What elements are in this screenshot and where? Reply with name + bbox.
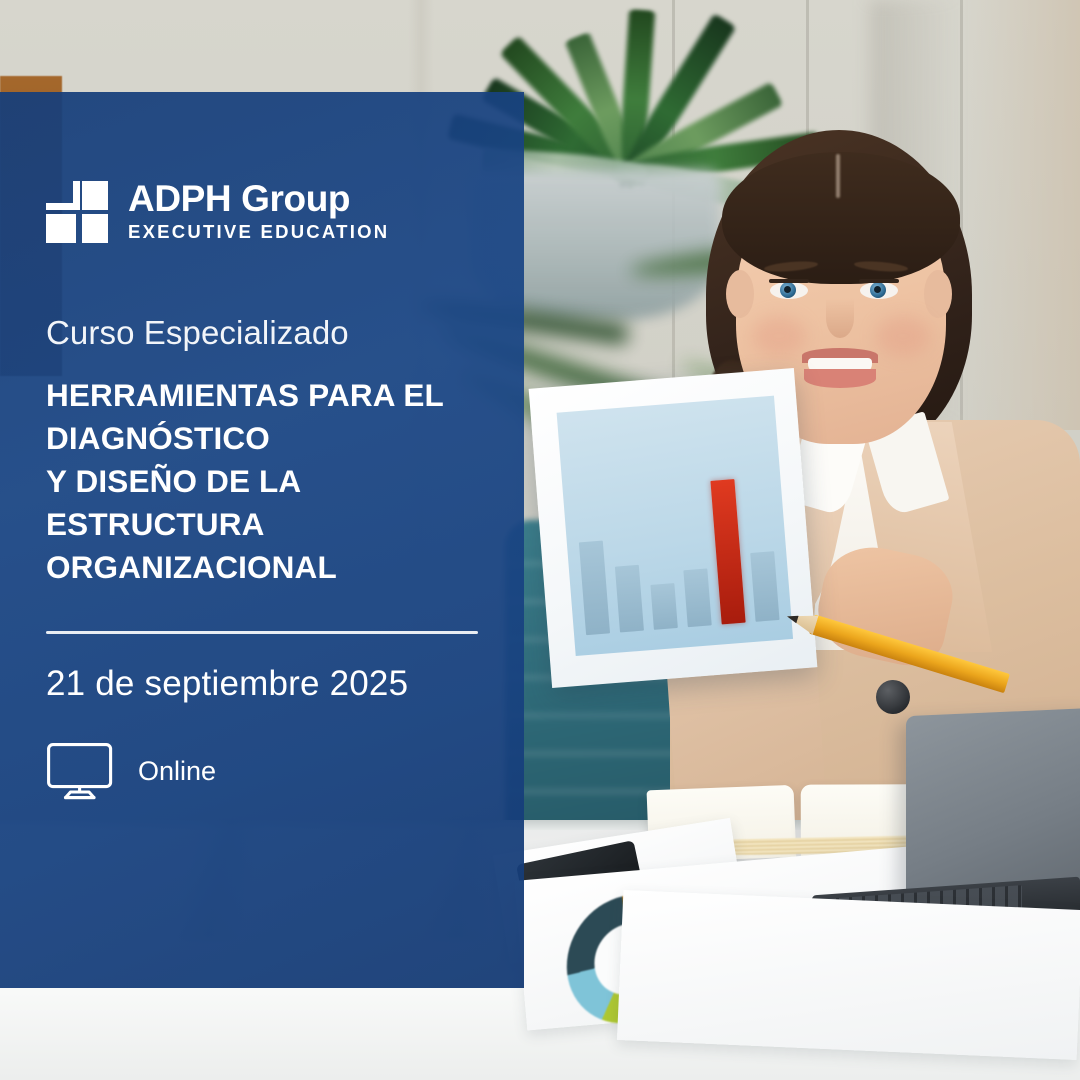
title-line-3: Y DISEÑO DE LA xyxy=(46,460,478,503)
cheek-right xyxy=(876,316,930,356)
lower-lip xyxy=(804,369,876,388)
eyelash-left xyxy=(769,279,809,283)
brand-name: ADPH Group xyxy=(128,180,389,218)
nose xyxy=(826,298,854,338)
eyelash-right xyxy=(859,279,899,283)
course-date: 21 de septiembre 2025 xyxy=(46,664,478,704)
title-line-2: DIAGNÓSTICO xyxy=(46,417,478,460)
promo-poster: ADPH Group EXECUTIVE EDUCATION Curso Esp… xyxy=(0,0,1080,1080)
monitor-icon xyxy=(46,742,114,800)
course-kicker: Curso Especializado xyxy=(46,314,478,352)
chart-print-area xyxy=(557,396,793,656)
bar xyxy=(615,565,644,633)
ear-left xyxy=(726,270,754,318)
ear-right xyxy=(924,270,952,318)
bar-highlight xyxy=(710,479,745,624)
bar xyxy=(650,583,677,630)
bar xyxy=(683,568,711,627)
title-line-5: ORGANIZACIONAL xyxy=(46,546,478,589)
pupil-right xyxy=(874,286,881,293)
delivery-mode: Online xyxy=(46,742,478,800)
brand-tagline: EXECUTIVE EDUCATION xyxy=(128,220,389,243)
hair-part xyxy=(836,154,840,198)
bar xyxy=(750,551,779,622)
delivery-mode-label: Online xyxy=(138,756,216,787)
panel-content: ADPH Group EXECUTIVE EDUCATION Curso Esp… xyxy=(0,92,524,988)
adph-squares-logo-icon xyxy=(46,181,108,243)
hair-front xyxy=(722,152,960,284)
paper-sheet xyxy=(617,890,1080,1060)
bar-chart-paper xyxy=(529,368,818,688)
brand-logo: ADPH Group EXECUTIVE EDUCATION xyxy=(46,180,478,244)
divider xyxy=(46,631,478,634)
course-title: HERRAMIENTAS PARA EL DIAGNÓSTICO Y DISEÑ… xyxy=(46,374,478,590)
title-line-4: ESTRUCTURA xyxy=(46,503,478,546)
title-line-1: HERRAMIENTAS PARA EL xyxy=(46,374,478,417)
cheek-left xyxy=(752,316,806,356)
bar xyxy=(579,541,610,636)
bar-chart xyxy=(574,470,779,635)
blazer-button xyxy=(876,680,910,714)
pupil-left xyxy=(784,286,791,293)
